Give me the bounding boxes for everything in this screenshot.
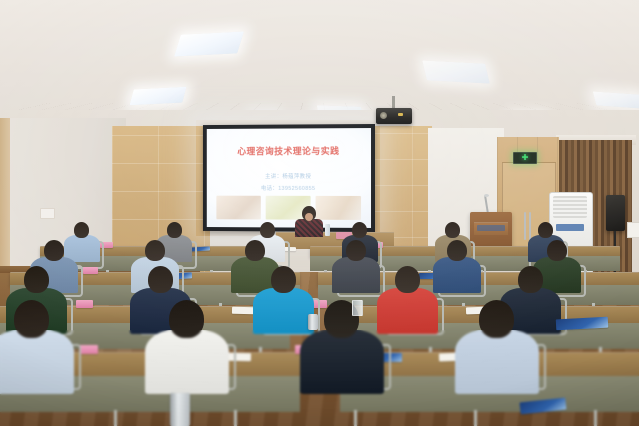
audience-head-man-white-shirt-foreground bbox=[169, 300, 204, 338]
audience-head-man-navy-plaid-shirt bbox=[148, 266, 173, 293]
audience-person-man-dark-jacket-foreground bbox=[300, 330, 384, 394]
audience-person-woman-dark-hair-foreground bbox=[455, 330, 539, 394]
nameplate-card bbox=[76, 300, 93, 308]
thermos-flask bbox=[308, 314, 318, 330]
audience-person-woman-cyan-jacket bbox=[253, 288, 314, 334]
audience-head-man-charcoal-shirt bbox=[346, 240, 366, 261]
audience-head-man-white-shirt bbox=[260, 222, 275, 238]
audience-seating bbox=[0, 0, 639, 426]
desk-leg bbox=[474, 410, 477, 426]
audience-head-man-blue-check-shirt bbox=[447, 240, 467, 261]
glass-cup bbox=[352, 300, 363, 316]
audience-person-man-charcoal-shirt bbox=[332, 257, 380, 293]
audience-head-man-tan-jacket bbox=[445, 222, 460, 238]
desk-leg bbox=[234, 410, 237, 426]
audience-head-man-olive-green-jacket bbox=[245, 240, 265, 261]
lecture-hall-photo: ✚ 心理咨询技术理论与实践 主讲：杨蕴萍教授 电话：13952560855 bbox=[0, 0, 639, 426]
thermos-flask bbox=[170, 393, 190, 426]
audience-person-person-red-white-hoodie bbox=[377, 288, 438, 334]
nameplate-card bbox=[83, 267, 98, 274]
desk-leg bbox=[354, 410, 357, 426]
audience-head-man-dark-green-jacket bbox=[547, 240, 567, 261]
audience-head-man-steel-blue-shirt bbox=[44, 240, 64, 261]
audience-head-woman-cyan-jacket bbox=[271, 266, 296, 293]
audience-person-man-white-shirt-foreground bbox=[145, 330, 229, 394]
audience-head-man-pale-blue-shirt bbox=[145, 240, 165, 261]
desk-leg bbox=[114, 410, 117, 426]
desk-leg bbox=[594, 410, 597, 426]
audience-head-woman-dark-hair-foreground bbox=[479, 300, 514, 338]
audience-head-man-dark-blazer bbox=[518, 266, 543, 293]
audience-head-person-red-white-hoodie bbox=[395, 266, 420, 293]
audience-head-man-navy-shirt bbox=[538, 222, 553, 238]
audience-person-man-blue-check-shirt bbox=[433, 257, 481, 293]
audience-head-man-light-blue-dress-shirt bbox=[14, 300, 49, 338]
audience-head-man-dark-suit bbox=[352, 222, 367, 238]
audience-head-man-dark-green-sweater bbox=[24, 266, 49, 293]
audience-head-man-light-blue-shirt bbox=[74, 222, 89, 238]
audience-head-man-grey-shirt bbox=[167, 222, 182, 238]
nameplate-card bbox=[79, 345, 98, 354]
audience-person-man-light-blue-dress-shirt bbox=[0, 330, 74, 394]
